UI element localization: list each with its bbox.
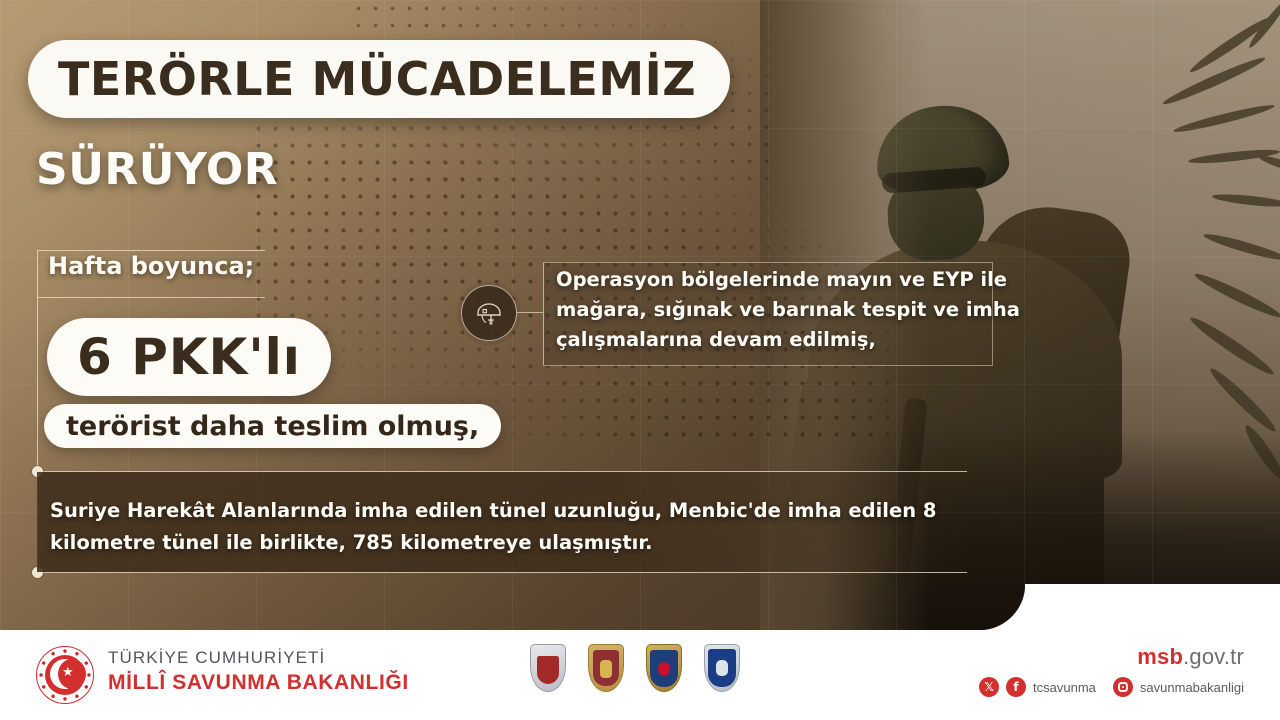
helmet-connector-line [517, 312, 543, 313]
facebook-icon[interactable]: f [1006, 677, 1026, 697]
air-force-emblem [646, 644, 682, 692]
website-url[interactable]: msb.gov.tr [979, 644, 1244, 670]
social-handle-fb: tcsavunma [1033, 680, 1096, 695]
social-handles: 𝕏 f tcsavunma savunmabakanligi [979, 677, 1244, 697]
headline-caption-pill: terörist daha teslim olmuş, [44, 404, 501, 448]
footer-corner-notch [979, 584, 1025, 630]
helmet-icon-badge [461, 285, 517, 341]
rail-tick-hafta [37, 297, 265, 298]
headline-caption-text: terörist daha teslim olmuş, [66, 411, 479, 442]
website-brand: msb [1137, 644, 1183, 669]
footer-riser [1025, 584, 1280, 630]
infographic-poster: TERÖRLE MÜCADELEMİZ SÜRÜYOR Hafta boyunc… [0, 0, 1280, 720]
ministry-seal-icon: ★ [36, 646, 94, 704]
helmet-icon [474, 300, 504, 326]
headline-number-text: 6 PKK'lı [77, 328, 301, 386]
land-forces-emblem [588, 644, 624, 692]
rail-tick-top [37, 250, 265, 251]
footer-bar: ★ TÜRKİYE CUMHURİYETİ MİLLÎ SAVUNMA BAKA… [0, 630, 1280, 720]
page-title: TERÖRLE MÜCADELEMİZ [28, 40, 730, 118]
general-staff-emblem [530, 644, 566, 692]
ministry-wordmark: TÜRKİYE CUMHURİYETİ MİLLÎ SAVUNMA BAKANL… [108, 648, 409, 695]
rail-tick-box-bottom [37, 572, 967, 573]
website-rest: .gov.tr [1183, 644, 1244, 669]
instagram-icon[interactable] [1113, 677, 1133, 697]
headline-number-pill: 6 PKK'lı [47, 318, 331, 396]
force-emblems [530, 644, 740, 692]
naval-forces-emblem [704, 644, 740, 692]
x-icon[interactable]: 𝕏 [979, 677, 999, 697]
ministry-line1: TÜRKİYE CUMHURİYETİ [108, 648, 409, 668]
period-label: Hafta boyunca; [48, 252, 254, 280]
social-block: msb.gov.tr 𝕏 f tcsavunma savunmabakanlig… [979, 644, 1244, 697]
page-subtitle: SÜRÜYOR [36, 144, 278, 195]
operations-panel-text: Operasyon bölgelerinde mayın ve EYP ile … [556, 265, 1056, 355]
tunnels-panel-text: Suriye Harekât Alanlarında imha edilen t… [50, 495, 990, 559]
social-handle-ig: savunmabakanligi [1140, 680, 1244, 695]
page-title-text: TERÖRLE MÜCADELEMİZ [58, 52, 696, 106]
ministry-line2: MİLLÎ SAVUNMA BAKANLIĞI [108, 671, 409, 695]
